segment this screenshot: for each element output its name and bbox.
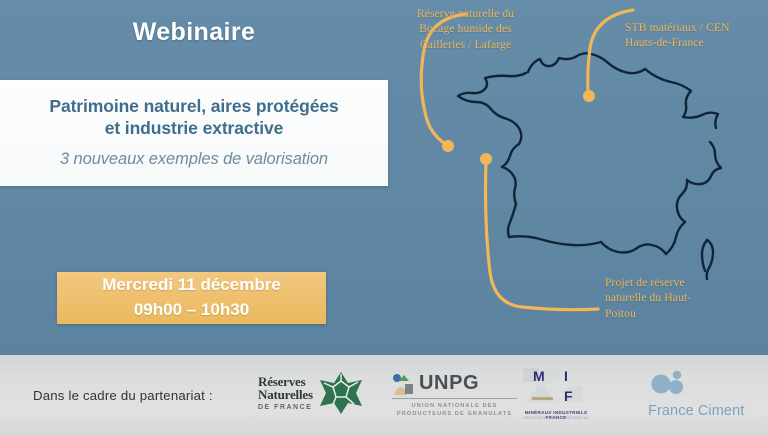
date-badge: Mercredi 11 décembre 09h00 – 10h30 (57, 272, 326, 324)
annotation-line-2: Hauts-de-France (625, 35, 768, 50)
annotation-line-1: STB matériaux / CEN (625, 20, 768, 35)
annotation-line-3: Cailleries / Lafarge (383, 37, 548, 52)
unpg-icon (392, 373, 414, 395)
annotation-line-1: Projet de réserve (605, 275, 735, 290)
logo-unpg: UNPG UNION NATIONALE DES PRODUCTEURS DE … (392, 372, 517, 419)
title-card: Patrimoine naturel, aires protégées et i… (0, 80, 388, 186)
mif-tagline-secondary: ASSOCIATION PROFESSIONNELLE (514, 416, 598, 420)
rnf-line-3: DE FRANCE (258, 404, 313, 411)
annotation-line-1: Réserve naturelle du (383, 6, 548, 21)
partnership-label: Dans le cadre du partenariat : (33, 388, 213, 403)
rnf-star-emblem (318, 370, 364, 416)
mif-letter-i: I (564, 368, 568, 384)
logo-reserves-naturelles-de-france: Réserves Naturelles DE FRANCE (258, 370, 364, 416)
mif-letter-m: M (533, 368, 545, 384)
mif-letter-f: F (564, 388, 573, 404)
annotation-line-2: Bocage humide des (383, 21, 548, 36)
france-ciment-icon (648, 370, 690, 396)
time-text: 09h00 – 10h30 (134, 298, 249, 323)
rnf-line-2: Naturelles (258, 388, 313, 402)
kicker-webinaire: Webinaire (0, 18, 388, 47)
date-text: Mercredi 11 décembre (102, 273, 281, 298)
title-line-2: et industrie extractive (49, 117, 338, 139)
title-line-1: Patrimoine naturel, aires protégées (49, 95, 338, 117)
unpg-wordmark: UNPG (419, 372, 479, 395)
annotation-stb-cen: STB matériaux / CEN Hauts-de-France (625, 20, 768, 51)
unpg-tagline-line-2: PRODUCTEURS DE GRANULATS (392, 410, 517, 418)
rnf-line-1: Réserves (258, 375, 313, 389)
map-marker-stb-cen (583, 90, 595, 102)
annotation-bocage-humide: Réserve naturelle du Bocage humide des C… (383, 6, 548, 52)
unpg-tagline: UNION NATIONALE DES PRODUCTEURS DE GRANU… (392, 402, 517, 419)
logo-france-ciment: France Ciment (648, 370, 752, 419)
map-marker-bocage-humide (442, 140, 454, 152)
france-ciment-wordmark: France Ciment (648, 403, 752, 419)
annotation-line-3: Poitou (605, 306, 735, 321)
mif-bar (532, 397, 553, 400)
unpg-tagline-line-1: UNION NATIONALE DES (392, 402, 517, 410)
webinar-slide: Webinaire Patrimoine naturel, aires prot… (0, 0, 768, 436)
unpg-divider (392, 398, 517, 399)
subtitle: 3 nouveaux exemples de valorisation (60, 150, 328, 169)
annotation-haut-poitou: Projet de réserve naturelle du Haut- Poi… (605, 275, 735, 321)
unpg-row: UNPG (392, 372, 517, 395)
title-block: Patrimoine naturel, aires protégées et i… (49, 95, 338, 140)
annotation-line-2: naturelle du Haut- (605, 290, 735, 305)
map-marker-haut-poitou (480, 153, 492, 165)
rnf-wordmark: Réserves Naturelles DE FRANCE (258, 375, 313, 411)
logo-mif: M I F MINÉRAUX INDUSTRIELS FRANCE ASSOCI… (519, 366, 593, 418)
